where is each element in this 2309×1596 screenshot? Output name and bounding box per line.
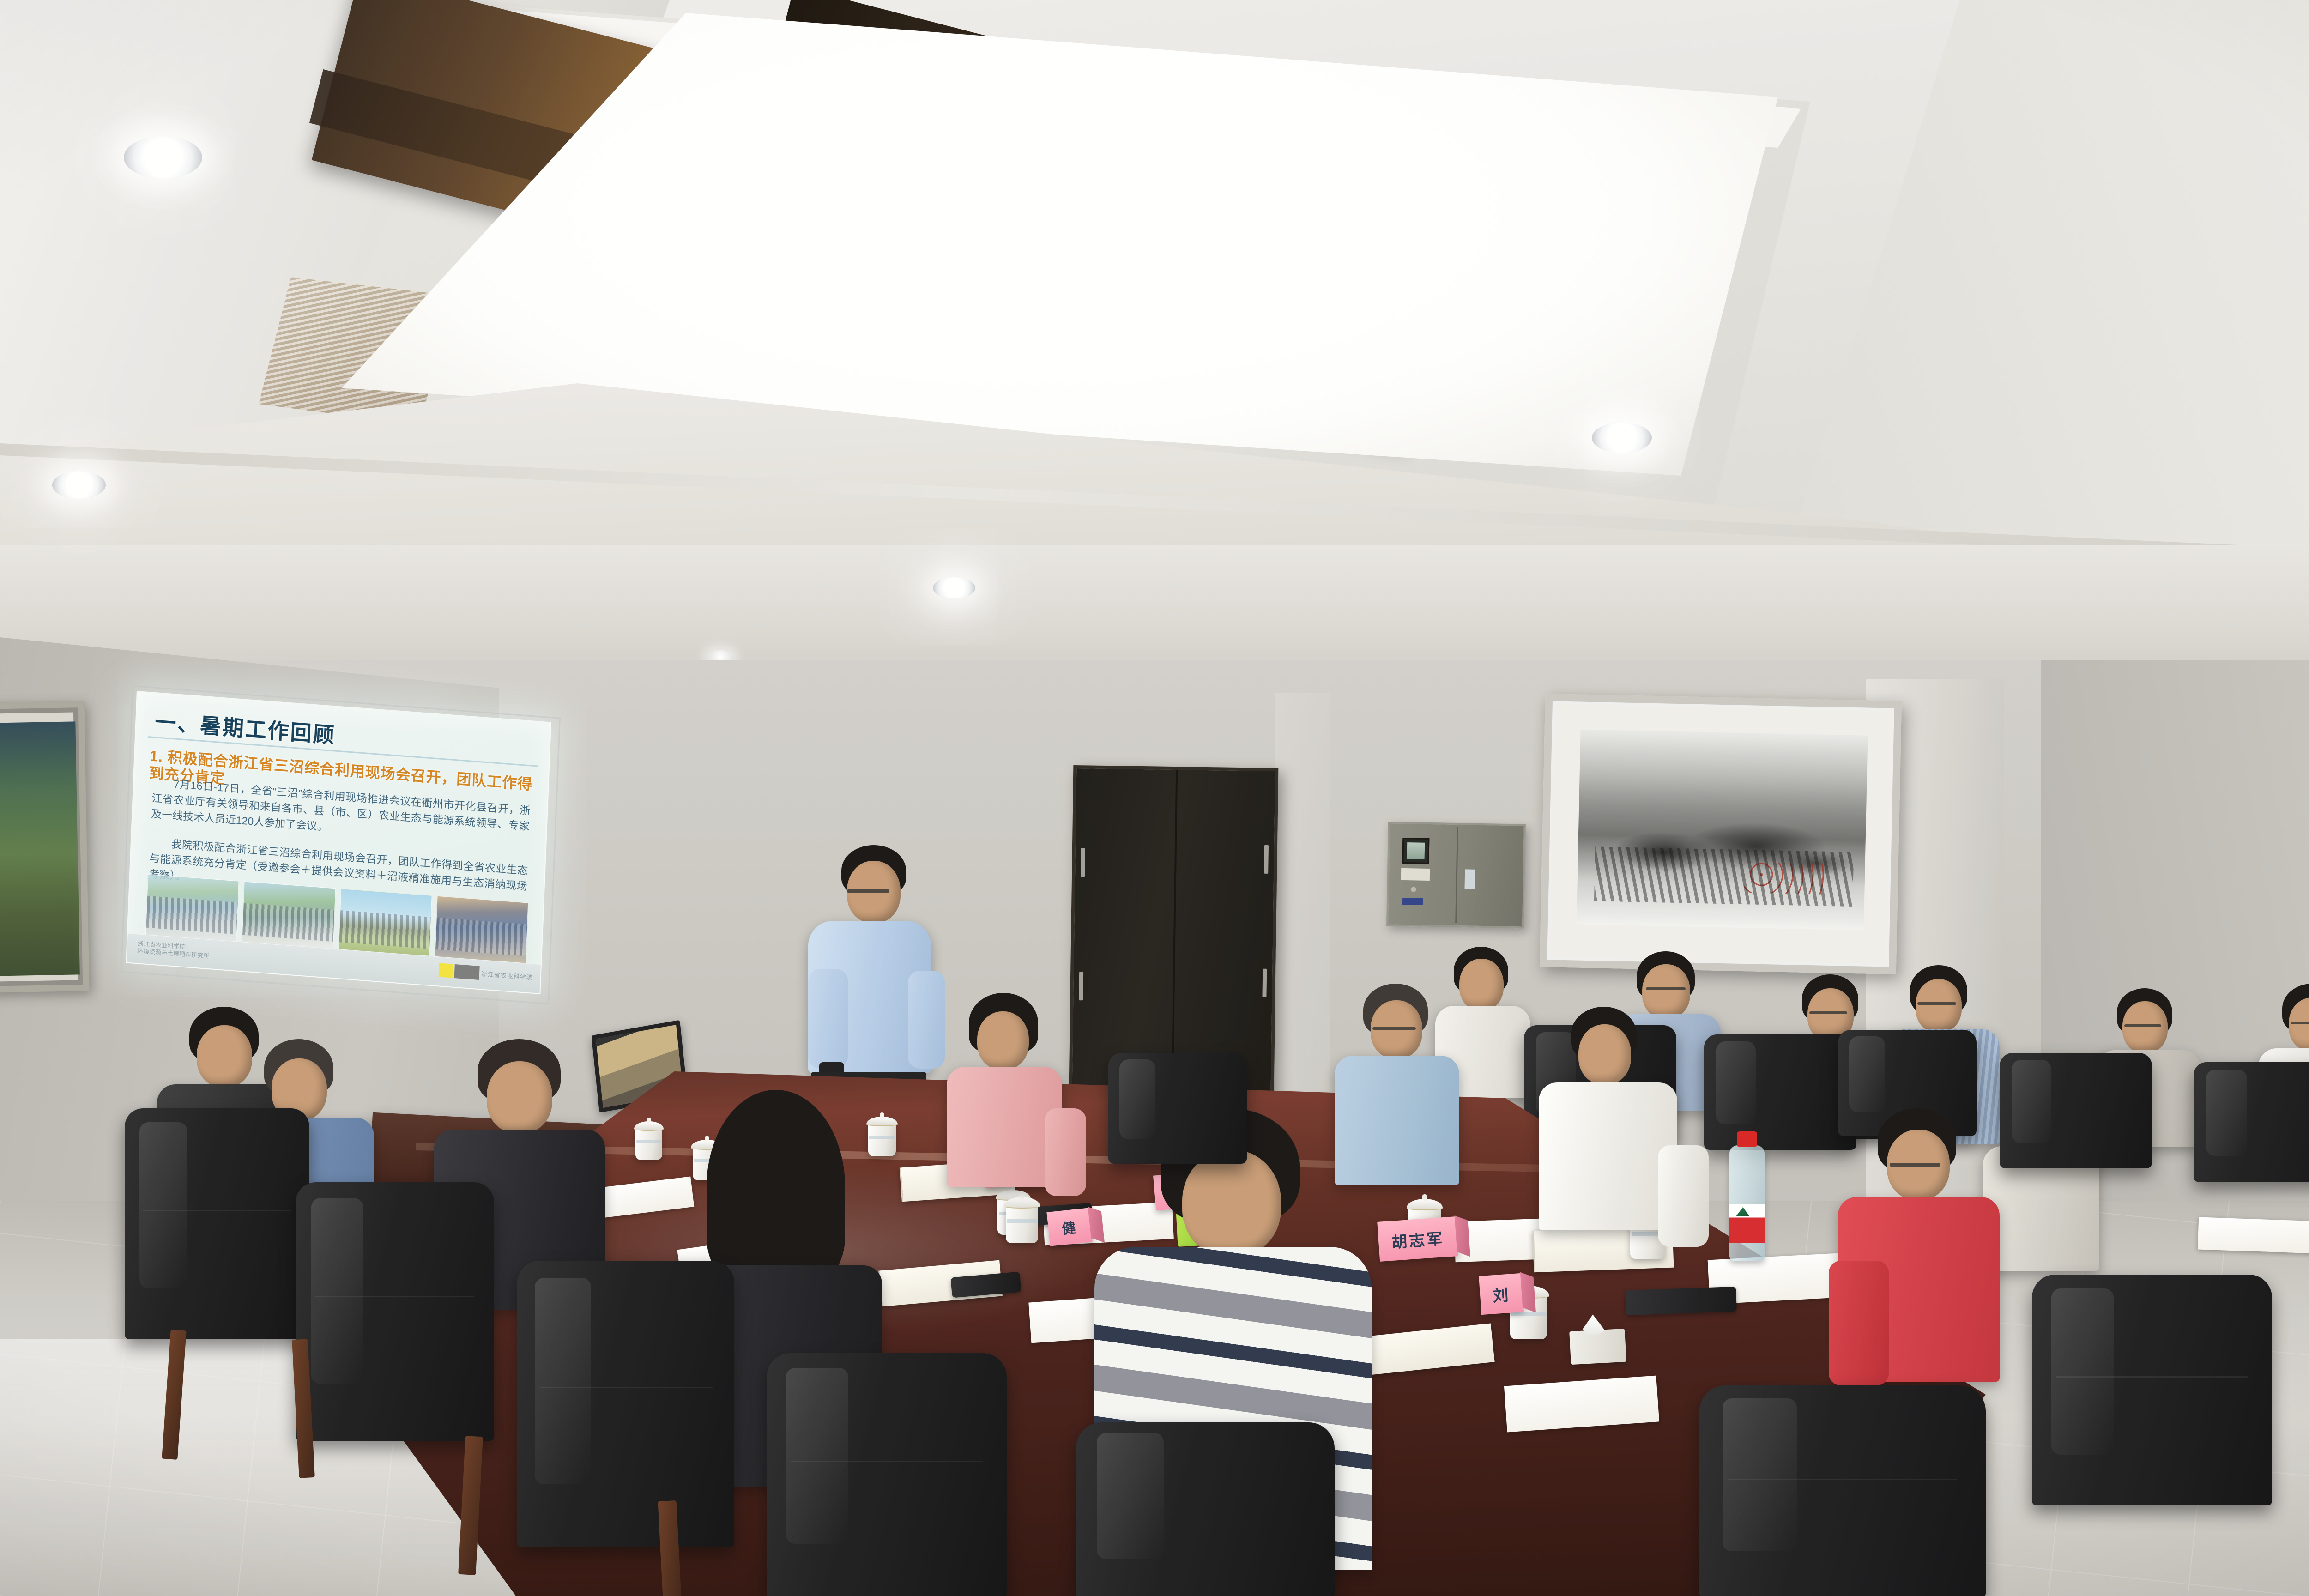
artwork-left-landscape [0,701,89,993]
head [1459,959,1504,1010]
head [1578,1024,1631,1084]
downlight-icon [124,136,202,179]
slide-photo-crowd [435,917,527,956]
arm [1045,1108,1086,1196]
eyeglasses-icon [1890,1163,1940,1167]
tea-cup[interactable] [868,1122,896,1156]
slide-photo-crowd [146,895,238,934]
door-hinge-icon [1079,972,1083,1000]
torso [1539,1082,1677,1230]
downlight-icon [1592,423,1652,453]
logo-gray-square-icon [454,964,480,980]
chair[interactable] [1108,1053,1247,1164]
bottle-cap-icon [1737,1131,1757,1147]
head [1642,964,1690,1019]
cabinet-sticker [1464,869,1475,889]
name-placard: 胡志军 [1377,1216,1458,1262]
chair[interactable] [296,1182,494,1441]
cabinet-door-split [1455,827,1458,923]
bottle-mountain-logo-icon [1736,1207,1750,1216]
eyeglasses-icon [1372,1027,1416,1030]
door-hinge-icon [1264,845,1269,874]
head [487,1061,552,1133]
chair[interactable] [767,1353,1007,1596]
head [1182,1150,1281,1256]
slide-logo: 浙江省农业科学院 [439,963,533,984]
downlight-icon [52,471,106,499]
slide-title: 一、暑期工作回顾 [154,705,336,749]
presenter-arm-right [908,971,945,1069]
projection-screen: 一、暑期工作回顾 1. 积极配合浙江省三沼综合利用现场会召开，团队工作得到充分肯… [126,691,551,994]
eyeglasses-icon [1809,1011,1847,1014]
chair[interactable] [1704,1034,1856,1150]
eyeglasses-icon [1646,987,1686,990]
bottle-label [1729,1204,1765,1243]
cabinet-button-icon[interactable] [1411,887,1416,892]
presenter-arm-left [808,969,848,1069]
chair[interactable] [1076,1422,1335,1596]
tea-cup[interactable] [635,1127,662,1160]
slide-photo [338,889,432,958]
hair-long [707,1090,845,1284]
name-placard: 健 [1046,1208,1092,1246]
chair[interactable] [125,1108,309,1339]
wall-pillar-secondary [1275,693,1330,1155]
smartphone[interactable] [1625,1287,1737,1315]
head [2122,1001,2168,1053]
slide-photo [145,874,239,944]
chair[interactable] [1699,1385,1986,1596]
slide-logo-text: 浙江省农业科学院 [481,969,533,981]
torso [1335,1056,1459,1185]
artwork-right-red-accents [1744,862,1831,895]
slide-footer-note: 浙江省农业科学院 环境资源与土壤肥料研究所 [137,940,210,960]
slide-photo [242,881,335,951]
conference-room-photo: 一、暑期工作回顾 1. 积极配合浙江省三沼综合利用现场会召开，团队工作得到充分肯… [0,0,2309,1596]
paper-sheet[interactable] [2198,1217,2309,1253]
eyeglasses-icon [847,889,889,893]
eyeglasses-icon [1917,1002,1956,1005]
water-bottle[interactable] [1729,1145,1765,1261]
cabinet-blue-plate [1402,898,1423,905]
wall-control-cabinet[interactable] [1386,822,1526,928]
tea-cup[interactable] [1006,1203,1038,1243]
slide-photo-crowd [242,903,334,942]
chair[interactable] [2194,1062,2309,1182]
door-hinge-icon [1081,848,1085,877]
chair[interactable] [517,1261,734,1547]
artwork-left-canvas [0,721,80,976]
eyeglasses-icon [2124,1024,2161,1027]
tissue-box[interactable] [1569,1329,1626,1365]
cabinet-meter-display [1402,838,1429,864]
downlight-icon [933,577,975,598]
chair[interactable] [2000,1053,2152,1168]
arm [1829,1261,1889,1385]
chair[interactable] [2032,1275,2272,1505]
projection-screen-surface: 一、暑期工作回顾 1. 积极配合浙江省三沼综合利用现场会召开，团队工作得到充分肯… [126,691,551,994]
name-placard: 刘 [1479,1273,1524,1315]
head [197,1025,252,1087]
head [977,1011,1029,1070]
logo-yellow-square-icon [439,963,453,978]
slide-photo-crowd [339,910,431,949]
artwork-right-ink-painting [1540,694,1902,974]
cabinet-label [1401,868,1430,881]
door-hinge-icon [1262,969,1267,997]
arm [1658,1145,1709,1247]
head [1916,979,1962,1033]
slide-photo [435,896,528,966]
eyeglasses-icon [2291,1022,2309,1024]
artwork-right-ink-wash [1577,730,1868,931]
